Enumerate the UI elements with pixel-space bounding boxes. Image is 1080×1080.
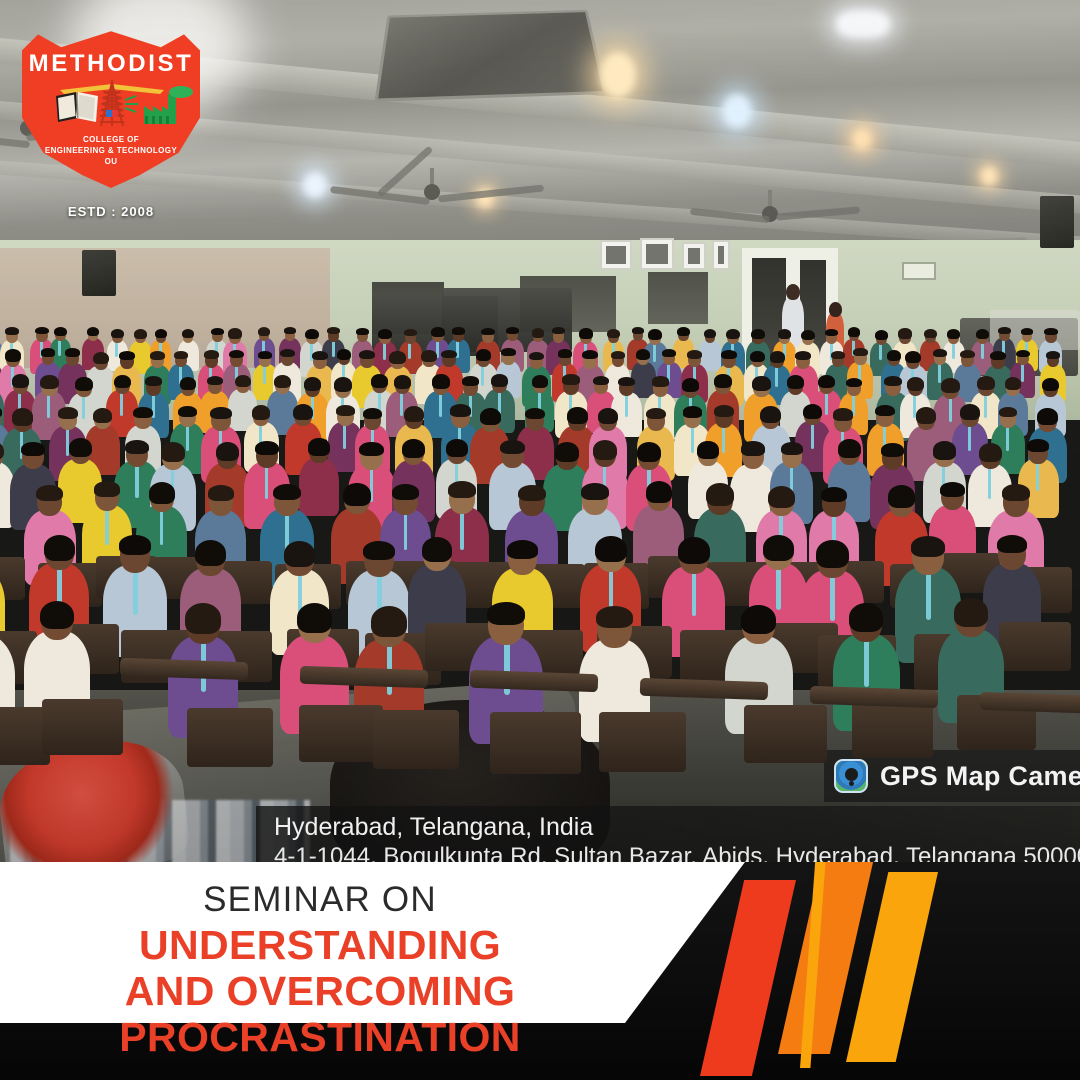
audience-member-hair <box>207 376 223 385</box>
audience-member-hair <box>726 329 740 340</box>
audience-member-hair <box>21 442 45 456</box>
gps-watermark-label: GPS Map Camera <box>880 761 1080 792</box>
auditorium-chair <box>999 622 1070 671</box>
audience-member-hair <box>394 375 411 389</box>
audience-member-hair <box>114 375 131 389</box>
audience-member-hair <box>93 408 112 423</box>
audience-member-hair <box>343 483 370 506</box>
audience-member-hair <box>211 328 224 335</box>
lanyard <box>186 425 189 452</box>
auditorium-chair <box>744 705 827 762</box>
audience-member-hair <box>933 349 948 357</box>
audience-member-hair <box>69 438 92 457</box>
audience-member-hair <box>741 605 776 635</box>
audience-member-hair <box>562 374 580 384</box>
audience-member-hair <box>182 329 194 338</box>
audience-member-hair <box>5 349 21 361</box>
audience-member-hair <box>327 327 340 334</box>
lanyard <box>1006 425 1009 451</box>
audience-member-hair <box>898 328 912 338</box>
audience-member-hair <box>476 349 492 361</box>
audience-member-hair <box>5 327 19 335</box>
audience-member-hair <box>501 348 515 356</box>
logo-emblem-art <box>22 80 200 132</box>
audience-member-hair <box>1042 378 1059 391</box>
audience-member-hair <box>838 439 861 458</box>
ceiling-light-icon <box>980 166 998 186</box>
audience-member-hair <box>204 350 219 359</box>
audience-member-hair <box>884 376 902 387</box>
audience-member-hair <box>821 487 847 503</box>
audience-member-hair <box>284 327 296 334</box>
audience-member-hair <box>781 442 804 455</box>
lanyard <box>988 466 991 499</box>
audience-member-hair <box>887 350 901 361</box>
audience-member-hair <box>40 375 58 390</box>
college-logo: METHODIST <box>22 28 200 243</box>
audience-member-hair <box>507 540 538 559</box>
lanyard <box>926 570 931 620</box>
audience-member-hair <box>480 408 501 425</box>
audience-member-hair <box>1046 351 1061 359</box>
audience-member-hair <box>846 378 862 387</box>
lanyard <box>343 424 346 450</box>
audience-member-hair <box>41 348 56 356</box>
audience-member-hair <box>87 327 100 337</box>
audience-member-hair <box>208 485 235 501</box>
audience-member-hair <box>44 535 75 561</box>
audience-member-hair <box>1005 377 1022 390</box>
lanyard <box>1036 461 1039 492</box>
audience-member-hair <box>682 378 700 392</box>
audience-member-hair <box>363 541 395 560</box>
wall-photo-frame <box>682 242 706 270</box>
audience-member-hair <box>297 603 332 633</box>
audience-member-hair <box>803 404 822 419</box>
audience-member-hair <box>881 443 905 457</box>
audience-member-hair <box>252 405 271 420</box>
audience-member-hair <box>119 535 152 555</box>
audience-member-hair <box>363 408 382 419</box>
audience-member-hair <box>174 351 188 359</box>
audience-member-hair <box>905 351 921 364</box>
lanyard <box>722 425 725 453</box>
ac-vent-icon <box>374 10 606 102</box>
audience-member-hair <box>704 329 716 338</box>
lanyard <box>968 424 971 452</box>
logo-emblem-svg <box>22 80 200 132</box>
audience-member-hair <box>337 349 352 360</box>
lanyard <box>776 565 780 610</box>
banner-title-line1: UNDERSTANDING <box>0 922 640 968</box>
audience-member-hair <box>598 408 618 424</box>
lanyard <box>120 392 123 416</box>
ceiling-light-icon <box>852 128 872 150</box>
audience-member-hair <box>404 406 424 422</box>
audience-member-hair <box>216 442 239 461</box>
lanyard <box>825 391 828 414</box>
audience-member-hair <box>848 327 860 336</box>
audience-member-hair <box>274 375 291 388</box>
audience-member-hair <box>677 327 689 336</box>
audience-member-hair <box>65 348 81 357</box>
audience-member-hair <box>402 439 425 458</box>
audience-member-hair <box>258 351 272 359</box>
lanyard <box>949 397 952 423</box>
lanyard <box>160 508 164 546</box>
audience-member-hair <box>487 602 525 625</box>
audience-member-hair <box>818 375 835 388</box>
audience-member-hair <box>235 375 251 388</box>
logo-wordmark: METHODIST <box>22 50 200 78</box>
audience-member-hair <box>999 407 1018 418</box>
audience-member-hair <box>389 351 405 364</box>
lanyard <box>811 423 814 450</box>
audience-member-hair <box>770 351 785 363</box>
audience-member-hair <box>446 439 468 457</box>
audience-member-hair <box>452 327 465 334</box>
audience-member-hair <box>683 406 702 417</box>
audience-member-hair <box>448 481 476 498</box>
audience-member-hair <box>431 327 444 337</box>
ceiling-light-icon <box>836 10 890 38</box>
audience-member-hair <box>831 351 846 359</box>
audience-member-hair <box>1027 439 1049 452</box>
audience-member-hair <box>1021 328 1033 335</box>
logo-subtitle-line2: ENGINEERING & TECHNOLOGY <box>22 145 200 156</box>
audience-member-hair <box>145 376 162 386</box>
audience-member-hair <box>907 377 924 391</box>
audience-member-hair <box>636 349 650 360</box>
audience-member-hair <box>579 328 593 339</box>
poster-canvas: Hyderabad, Telangana, India 4-1-1044, Bo… <box>0 0 1080 1080</box>
lanyard <box>383 342 386 360</box>
audience-member-hair <box>752 376 770 391</box>
audience-member-hair <box>75 377 92 391</box>
lanyard <box>105 507 109 545</box>
lanyard <box>404 511 408 550</box>
audience-member-hair <box>529 352 545 361</box>
banner-title-line2: AND OVERCOMING PROCRASTINATION <box>0 968 640 1060</box>
audience-member-hair <box>875 405 895 417</box>
audience-member-hair <box>58 407 78 419</box>
audience-member-hair <box>35 327 49 334</box>
ceiling-light-icon <box>722 94 752 128</box>
audience-member-hair <box>334 377 352 392</box>
audience-member-hair <box>763 535 794 561</box>
audience-member-hair <box>229 350 244 358</box>
audience-member-hair <box>960 404 980 420</box>
audience-member-hair <box>825 329 838 336</box>
audience-member-hair <box>1037 408 1058 425</box>
lanyard <box>691 426 694 453</box>
audience-member-hair <box>751 329 765 339</box>
audience-member-hair <box>134 329 147 339</box>
audience-member-hair <box>359 442 384 457</box>
audience-member-hair <box>960 350 975 358</box>
wall-photo-frame <box>600 240 632 270</box>
audience-member-hair <box>359 350 375 359</box>
audience-member-hair <box>567 407 587 423</box>
audience-member-hair <box>195 540 227 567</box>
audience-member-hair <box>618 377 635 387</box>
audience-member-hair <box>155 329 167 338</box>
tower-sign <box>106 110 112 117</box>
audience-member-hair <box>180 377 196 390</box>
audience-member-hair <box>787 375 804 389</box>
lanyard <box>115 341 118 357</box>
audience-member-hair <box>979 443 1002 462</box>
lanyard <box>265 464 268 498</box>
audience-member-hair <box>54 327 67 336</box>
audience-member-hair <box>947 329 960 339</box>
audience-member-hair <box>93 352 109 365</box>
banner-kicker: SEMINAR ON <box>0 878 640 922</box>
audience-member-hair <box>911 536 945 557</box>
audience-member-hair <box>228 328 242 339</box>
audience-member-hair <box>149 482 175 504</box>
signal-waves <box>125 96 138 112</box>
audience-member-hair <box>977 376 995 390</box>
audience-member-hair <box>111 329 123 338</box>
audience-member-hair <box>607 329 619 338</box>
audience-member-hair <box>40 601 74 630</box>
audience-member-hair <box>558 349 573 357</box>
auditorium-chair <box>852 702 934 758</box>
audience-member-hair <box>632 327 644 334</box>
audience-member-hair <box>210 407 231 419</box>
audience-member-hair <box>593 440 617 460</box>
audience-member-hair <box>178 406 197 417</box>
audience-member-hair <box>833 408 854 420</box>
audience-member-hair <box>336 405 355 416</box>
audience-member-hair <box>392 484 419 500</box>
audience-member-hair <box>133 407 153 418</box>
lanyard <box>830 573 835 621</box>
audience-member-hair <box>378 329 392 339</box>
lanyard <box>135 463 138 497</box>
audience-member-hair <box>582 350 598 359</box>
lanyard <box>408 342 411 359</box>
audience-member-hair <box>125 440 149 454</box>
audience-member-hair <box>976 329 989 339</box>
audience-member-hair <box>481 328 495 336</box>
audience-member-hair <box>596 606 633 628</box>
audience-member-hair <box>750 351 765 362</box>
lanyard <box>692 569 697 616</box>
ceiling-light-icon <box>600 52 636 98</box>
audience-member-hair <box>778 329 791 339</box>
audience-member-hair <box>506 327 519 334</box>
audience-member-hair <box>293 404 313 420</box>
audience-member-hair <box>924 329 936 338</box>
audience-member-hair <box>312 351 328 360</box>
audience-member-hair <box>36 485 63 501</box>
standing-person-head <box>829 302 842 317</box>
lanyard <box>82 395 85 419</box>
logo-subtitle-line1: COLLEGE OF <box>22 134 200 145</box>
audience-member-hair <box>161 442 185 462</box>
audience-member-hair <box>916 407 936 423</box>
auditorium-chair <box>490 712 581 774</box>
audience-member-hair <box>652 376 670 386</box>
audience-member-hair <box>714 405 734 417</box>
auditorium-chair <box>42 699 123 755</box>
audience-member-hair <box>954 598 987 626</box>
lanyard <box>133 568 138 616</box>
audience-member-hair <box>532 375 548 388</box>
lanyard <box>47 393 50 419</box>
wall-photo-frame <box>712 240 730 270</box>
audience-member-hair <box>273 484 301 501</box>
lanyard <box>864 637 869 687</box>
audience-member-hair <box>721 350 737 359</box>
auditorium-chair <box>599 712 687 772</box>
lanyard <box>263 365 266 384</box>
audience-member-hair <box>532 328 544 337</box>
audience-member-hair <box>1002 484 1031 501</box>
audience-member-hair <box>581 483 609 500</box>
gps-city-line: Hyderabad, Telangana, India <box>274 812 1080 842</box>
audience-member-hair <box>646 481 672 503</box>
audience-member-hair <box>432 374 450 388</box>
audience-member-hair <box>491 374 508 387</box>
audience-member-hair <box>421 350 437 362</box>
audience-member-hair <box>450 404 471 416</box>
audience-member-hair <box>119 351 135 360</box>
audience-member-hair <box>552 327 566 335</box>
lanyard <box>984 393 987 417</box>
map-pin-icon <box>834 759 868 793</box>
audience-member-hair <box>12 408 33 425</box>
auditorium-chair <box>373 710 459 769</box>
lanyard <box>952 342 955 359</box>
audience-member-hair <box>678 537 710 564</box>
wall-speaker-icon <box>1040 196 1074 248</box>
wall-photo-frame <box>640 238 674 270</box>
standing-person-head <box>786 284 800 300</box>
audience-member-hair <box>941 378 960 393</box>
audience-member-hair <box>801 330 815 341</box>
audience-member-hair <box>280 349 295 358</box>
lanyard <box>653 343 656 362</box>
audience-member-hair <box>305 329 319 340</box>
audience-member-hair <box>284 541 315 567</box>
audience-member-hair <box>648 329 662 340</box>
audience-member-hair <box>500 440 525 455</box>
lanyard <box>981 342 984 360</box>
audience-member-hair <box>422 537 452 562</box>
lanyard <box>879 343 882 361</box>
audience-member-hair <box>611 351 625 359</box>
wall-speaker-icon <box>82 250 116 296</box>
audience-member-hair <box>94 481 120 497</box>
audience-member-hair <box>518 485 545 501</box>
audience-member-body <box>299 458 340 517</box>
lanyard <box>625 393 628 416</box>
audience-member-hair <box>714 374 732 388</box>
audience-member-hair <box>308 438 330 456</box>
lanyard <box>400 392 403 416</box>
audience-member-hair <box>1016 350 1030 358</box>
audience-member-hair <box>940 482 965 497</box>
audience-member-hair <box>595 536 626 563</box>
audience-member-hair <box>371 606 407 637</box>
audience-member-hair <box>697 441 718 458</box>
audience-member-hair <box>875 330 888 340</box>
audience-member-hair <box>371 374 388 387</box>
window-panel <box>648 272 708 324</box>
audience-member-hair <box>356 328 368 335</box>
audience-member-hair <box>816 540 849 568</box>
lanyard <box>439 392 442 417</box>
audience-member-hair <box>637 442 661 462</box>
audience-member-hair <box>555 442 580 462</box>
audience-member-hair <box>462 376 479 386</box>
audience-member-hair <box>687 350 702 358</box>
banner-text-block: SEMINAR ON UNDERSTANDING AND OVERCOMING … <box>0 878 640 1060</box>
title-banner: SEMINAR ON UNDERSTANDING AND OVERCOMING … <box>0 862 1080 1080</box>
lanyard <box>460 509 464 550</box>
audience-member-hair <box>185 603 221 634</box>
audience-member-hair <box>849 603 883 632</box>
audience-member-hair <box>258 327 270 336</box>
audience-member-hair <box>404 329 417 336</box>
audience-member-hair <box>525 408 545 420</box>
auditorium-chair <box>187 708 273 767</box>
audience-member-hair <box>741 441 766 456</box>
audience-member-hair <box>12 374 29 388</box>
audience-member-hair <box>768 486 795 508</box>
lanyard <box>58 339 61 355</box>
audience-member-hair <box>990 351 1006 360</box>
audience-member-hair <box>706 483 733 506</box>
logo-subtitle-line3: OU <box>22 156 200 167</box>
lanyard <box>938 363 941 383</box>
wall-sign <box>902 262 936 280</box>
audience-member-hair <box>441 350 456 359</box>
logo-established-text: ESTD : 2008 <box>22 204 200 219</box>
audience-member-hair <box>853 348 867 356</box>
auditorium-chair <box>299 705 383 763</box>
ceiling-light-icon <box>303 172 327 198</box>
audience-member-hair <box>255 441 279 455</box>
open-book-icon <box>56 92 98 122</box>
audience-member-hair <box>997 535 1027 553</box>
audience-member-hair <box>593 376 609 385</box>
audience-member-hair <box>933 441 955 459</box>
audience-member-hair <box>150 351 165 360</box>
audience-member-hair <box>1044 328 1057 335</box>
audience-member-hair <box>662 349 676 357</box>
lanyard <box>332 340 335 357</box>
lanyard <box>1021 364 1024 383</box>
audience-member-hair <box>795 351 811 360</box>
logo-subtitle: COLLEGE OF ENGINEERING & TECHNOLOGY OU <box>22 134 200 167</box>
audience-member-hair <box>998 327 1011 334</box>
lanyard <box>775 366 778 387</box>
audience-member-hair <box>888 485 915 508</box>
audience-member-hair <box>646 408 666 420</box>
audience-member-hair <box>304 377 322 391</box>
audience-member-hair <box>760 406 781 423</box>
